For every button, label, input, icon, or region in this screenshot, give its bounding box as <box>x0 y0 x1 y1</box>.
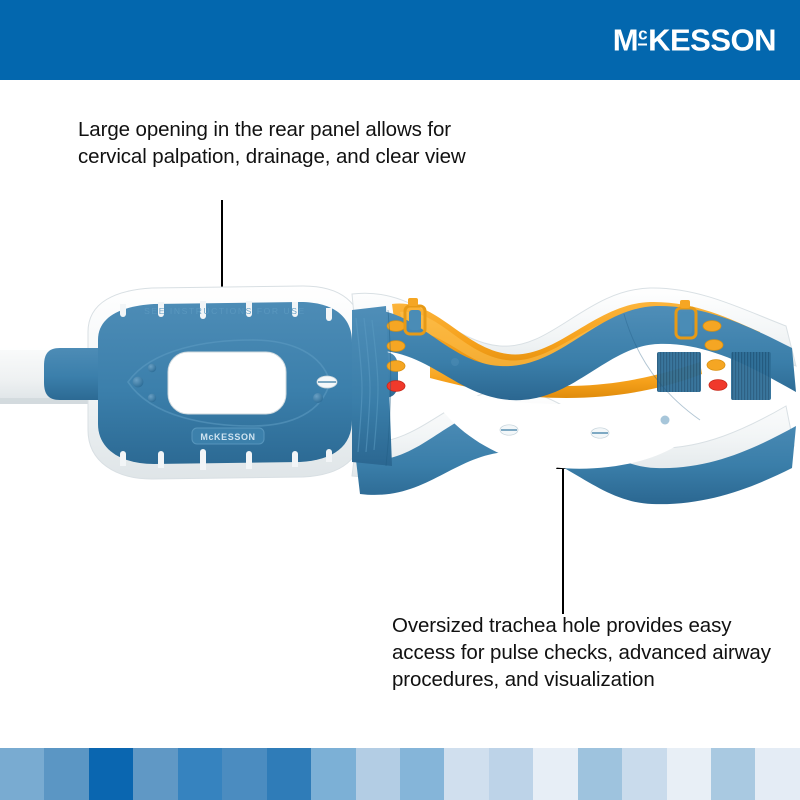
embossed-brand-plate: McKESSON <box>192 428 264 444</box>
rear-panel-opening <box>168 352 286 414</box>
footer-swatch <box>267 748 311 800</box>
footer-swatch <box>44 748 88 800</box>
footer-swatch <box>444 748 488 800</box>
hook-loop-patch-right <box>731 352 771 400</box>
footer-swatch <box>0 748 44 800</box>
logo-text-kesson: KESSON <box>648 25 776 56</box>
logo-letter-m: M <box>613 25 638 56</box>
footer-swatch <box>311 748 355 800</box>
callout-rear-panel-opening: Large opening in the rear panel allows f… <box>78 116 468 170</box>
indicator-amber <box>705 340 723 351</box>
indicator-amber <box>707 360 725 371</box>
indicator-red <box>387 381 405 392</box>
header-bar: McKESSON <box>0 0 800 80</box>
collar-illustration: SEE INSTRUCTIONS FOR USE McKESSON <box>0 270 800 550</box>
embossed-instructions-text: SEE INSTRUCTIONS FOR USE <box>144 306 306 316</box>
footer-swatch <box>578 748 622 800</box>
header-divider <box>0 80 800 84</box>
indicator-red <box>709 380 727 391</box>
indicator-amber <box>387 361 405 372</box>
footer-swatch <box>622 748 666 800</box>
footer-swatch <box>667 748 711 800</box>
footer-swatch <box>133 748 177 800</box>
panel-adjust-slot <box>317 376 337 388</box>
collar-front-section <box>352 288 796 504</box>
mckesson-logo: McKESSON <box>613 25 776 56</box>
footer-swatch <box>356 748 400 800</box>
product-marketing-image: McKESSON Large opening in the rear panel… <box>0 0 800 800</box>
footer-swatch <box>711 748 755 800</box>
footer-color-strip <box>0 748 800 800</box>
footer-swatch <box>89 748 133 800</box>
callout-trachea-hole: Oversized trachea hole provides easy acc… <box>392 612 782 693</box>
logo-letter-c: c <box>638 26 647 46</box>
indicator-amber <box>703 321 721 332</box>
embossed-brand-text: McKESSON <box>200 432 255 442</box>
panel-rivet <box>313 393 323 403</box>
footer-swatch <box>533 748 577 800</box>
panel-rivet <box>133 377 144 388</box>
panel-rivet <box>148 394 156 402</box>
panel-rivet <box>148 364 156 372</box>
collar-rear-panel: SEE INSTRUCTIONS FOR USE McKESSON <box>44 286 398 479</box>
panel-rivet <box>661 416 670 425</box>
footer-swatch <box>755 748 799 800</box>
footer-swatch <box>178 748 222 800</box>
footer-swatch <box>222 748 266 800</box>
panel-rivet <box>451 358 459 366</box>
footer-swatch <box>489 748 533 800</box>
footer-swatch <box>400 748 444 800</box>
product-cervical-collar: SEE INSTRUCTIONS FOR USE McKESSON <box>0 270 800 550</box>
hook-loop-patch-left <box>657 352 701 392</box>
